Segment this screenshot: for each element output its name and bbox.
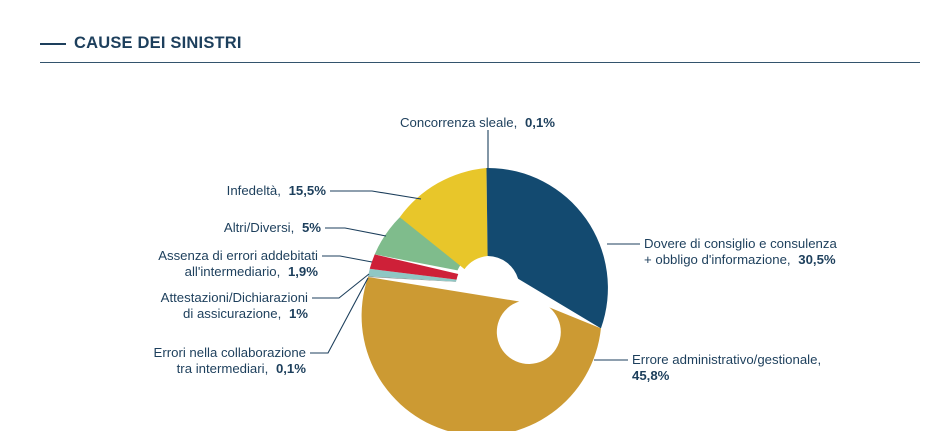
header-divider xyxy=(40,62,920,63)
leader-attestazioni xyxy=(312,274,369,298)
pie-chart-container: Concorrenza sleale, 0,1% Infedeltà, 15,5… xyxy=(0,70,934,431)
label-errore-administrativo: Errore administrativo/gestionale, xyxy=(632,352,821,367)
page-header: CAUSE DEI SINISTRI xyxy=(0,0,934,70)
label-dovere-line1: Dovere di consiglio e consulenza xyxy=(644,236,837,251)
label-dovere-value: 30,5% xyxy=(798,252,836,267)
title-dash-icon xyxy=(40,43,66,45)
label-assenza-value: 1,9% xyxy=(288,264,318,279)
label-errore-value: 45,8% xyxy=(632,368,670,383)
label-attestazioni-line1: Attestazioni/Dichiarazioni xyxy=(161,290,308,305)
label-concorrenza-text: Concorrenza sleale, xyxy=(400,115,517,130)
label-altri-text: Altri/Diversi, xyxy=(224,220,294,235)
label-attestazioni-line2-text: di assicurazione, xyxy=(183,306,281,321)
leader-collaborazione xyxy=(310,278,368,353)
label-dovere-line2: + obbligo d'informazione, xyxy=(644,252,791,267)
label-infedelta-text: Infedeltà, xyxy=(227,183,281,198)
label-dovere-consiglio: Dovere di consiglio e consulenza xyxy=(644,236,837,251)
label-errore-administrativo-value: 45,8% xyxy=(632,368,670,383)
title-row: CAUSE DEI SINISTRI xyxy=(40,34,242,53)
leader-assenza xyxy=(322,256,372,262)
chart-page: CAUSE DEI SINISTRI xyxy=(0,0,934,431)
label-assenza-line1: Assenza di errori addebitati xyxy=(158,248,318,263)
label-errore-line1: Errore administrativo/gestionale, xyxy=(632,352,821,367)
label-collaborazione: Errori nella collaborazione xyxy=(154,345,306,360)
label-infedelta-value: 15,5% xyxy=(289,183,327,198)
page-title: CAUSE DEI SINISTRI xyxy=(74,34,242,53)
label-assenza-errori-line2: all'intermediario, 1,9% xyxy=(185,264,319,279)
label-attestazioni-line2: di assicurazione, 1% xyxy=(183,306,308,321)
label-collaborazione-line2: tra intermediari, 0,1% xyxy=(177,361,307,376)
label-attestazioni: Attestazioni/Dichiarazioni xyxy=(161,290,308,305)
leader-infedelta xyxy=(330,191,421,199)
pie-slices xyxy=(362,168,608,431)
label-concorrenza-value: 0,1% xyxy=(525,115,555,130)
label-collaborazione-line2-text: tra intermediari, xyxy=(177,361,269,376)
label-assenza-errori: Assenza di errori addebitati xyxy=(158,248,318,263)
leader-altri xyxy=(325,228,386,236)
label-dovere-consiglio-line2: + obbligo d'informazione, 30,5% xyxy=(644,252,836,267)
label-collaborazione-line1: Errori nella collaborazione xyxy=(154,345,306,360)
label-attestazioni-value: 1% xyxy=(289,306,308,321)
label-altri-value: 5% xyxy=(302,220,321,235)
label-infedelta: Infedeltà, 15,5% xyxy=(227,183,327,198)
label-collaborazione-value: 0,1% xyxy=(276,361,306,376)
donut-chart: Concorrenza sleale, 0,1% Infedeltà, 15,5… xyxy=(0,70,934,431)
label-assenza-line2: all'intermediario, xyxy=(185,264,281,279)
label-altri-diversi: Altri/Diversi, 5% xyxy=(224,220,321,235)
label-concorrenza-sleale: Concorrenza sleale, 0,1% xyxy=(400,115,555,130)
